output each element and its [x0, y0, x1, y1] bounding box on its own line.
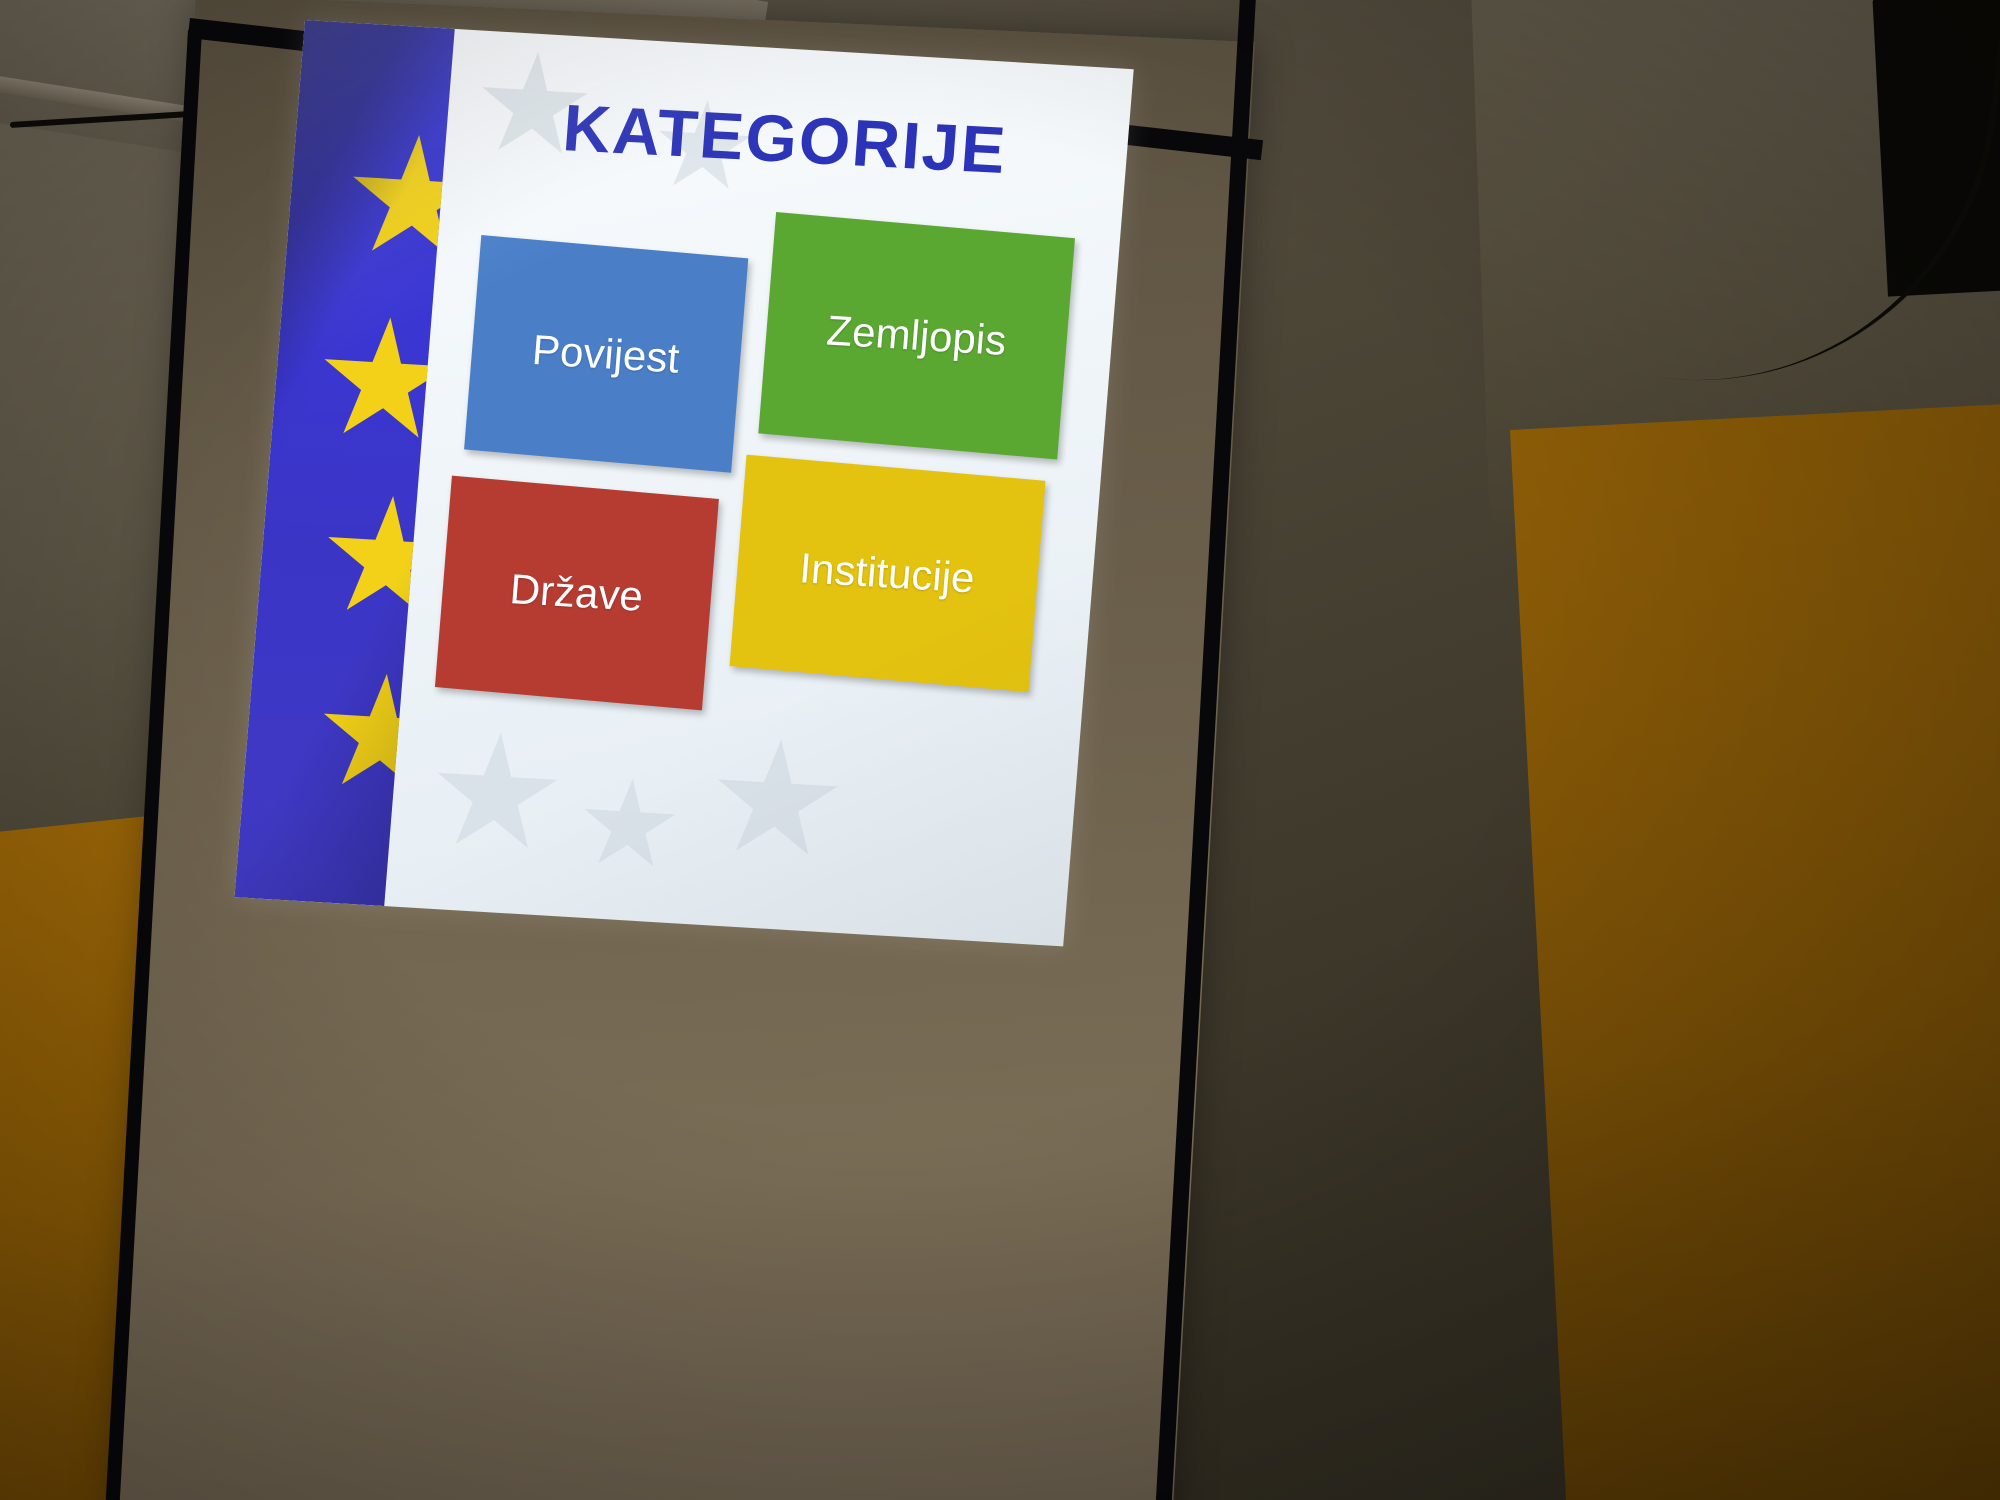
category-tile-label: Države	[509, 565, 646, 621]
category-tile-drzave[interactable]: Države	[435, 476, 719, 711]
watermark-star-icon	[578, 776, 680, 876]
category-tile-label: Povijest	[531, 326, 682, 383]
wainscot-right	[1510, 397, 2000, 1500]
category-tile-zemljopis[interactable]: Zemljopis	[758, 212, 1075, 459]
photo-scene: KATEGORIJE Povijest Zemljopis Države Ins…	[0, 0, 2000, 1500]
slide-title: KATEGORIJE	[473, 85, 1098, 193]
projected-slide: KATEGORIJE Povijest Zemljopis Države Ins…	[234, 20, 1133, 946]
category-tile-label: Institucije	[798, 544, 977, 602]
category-tile-povijest[interactable]: Povijest	[464, 235, 748, 473]
category-tile-label: Zemljopis	[825, 307, 1008, 366]
category-tile-grid: Povijest Zemljopis Države Institucije	[422, 190, 1096, 786]
category-tile-institucije[interactable]: Institucije	[730, 455, 1046, 692]
